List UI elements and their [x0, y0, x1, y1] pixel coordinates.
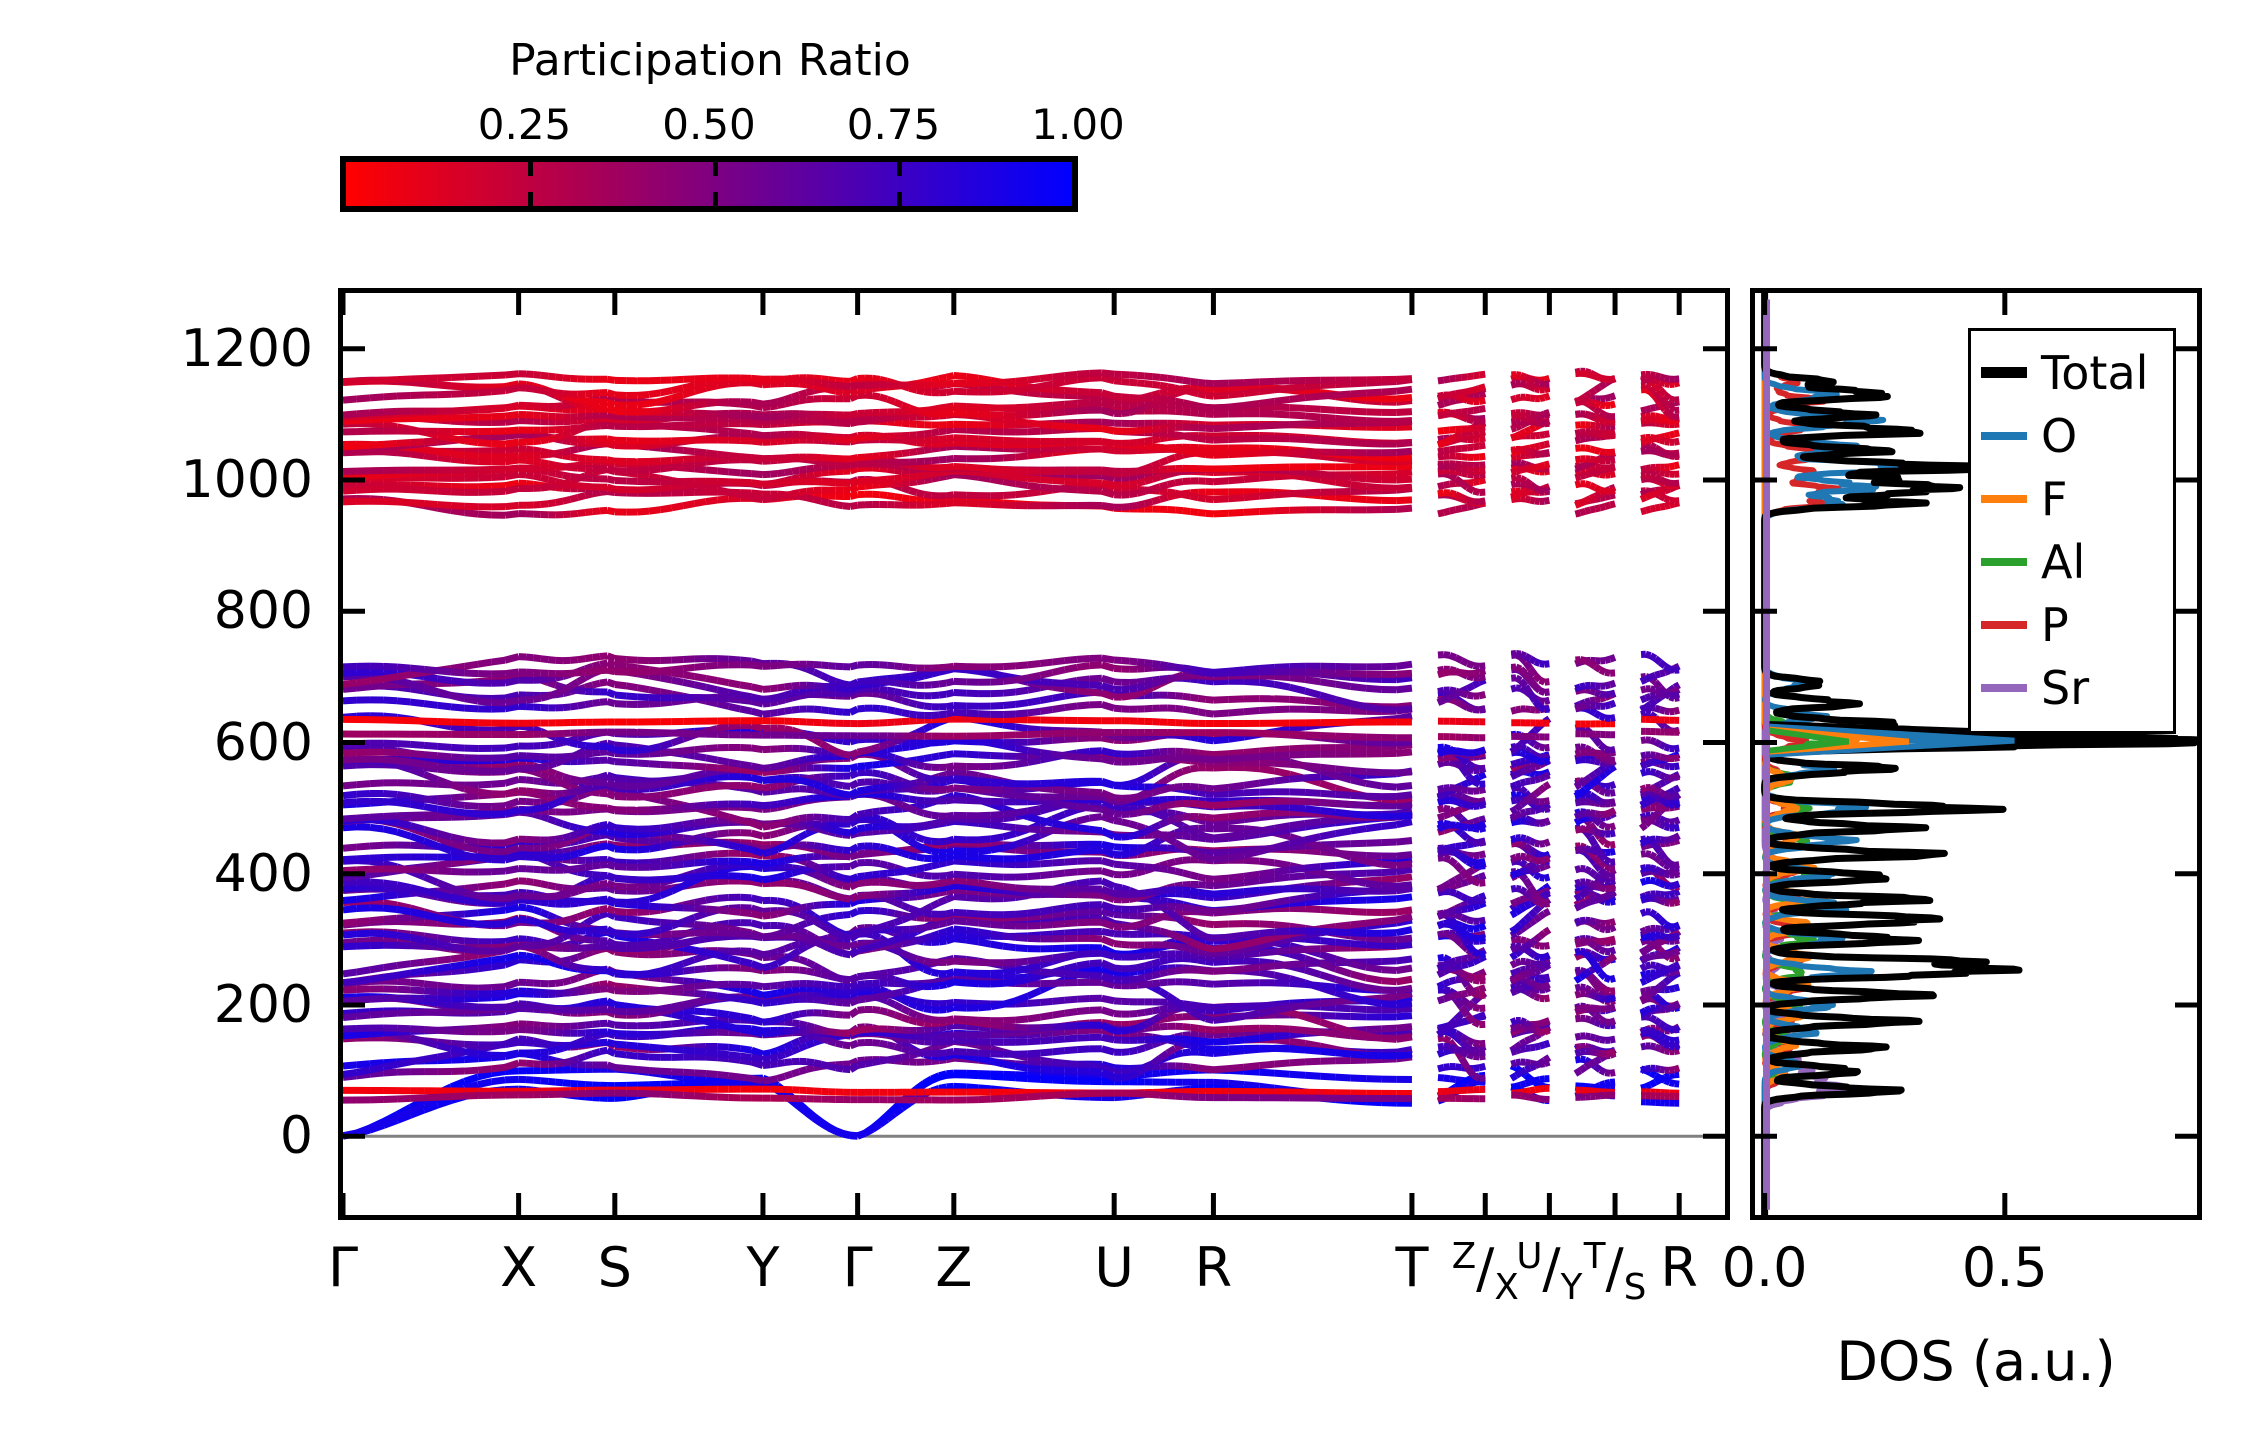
dos-legend: TotalOFAlPSr [1968, 328, 2176, 734]
dos-legend-item-p[interactable]: P [1981, 593, 2165, 656]
dos-x-tick-label: 0.0 [1722, 1236, 1808, 1299]
colorbar-tick-label: 1.00 [1031, 100, 1125, 149]
dos-legend-item-al[interactable]: Al [1981, 530, 2165, 593]
colorbar-tick-label: 0.50 [662, 100, 756, 149]
legend-label: Al [2041, 539, 2085, 585]
band-x-tick-label: T [1395, 1236, 1428, 1299]
legend-line-swatch [1981, 684, 2027, 692]
dos-legend-item-total[interactable]: Total [1981, 341, 2165, 404]
colorbar-tick-mark [528, 162, 533, 206]
colorbar-group: Participation Ratio 0.250.500.751.00 [340, 38, 1080, 198]
legend-label: F [2041, 476, 2067, 522]
dos-legend-item-f[interactable]: F [1981, 467, 2165, 530]
band-x-tick-label: R [1195, 1236, 1233, 1299]
legend-line-swatch [1981, 432, 2027, 440]
band-y-tick-label: 1200 [128, 319, 313, 379]
band-y-tick-label: 600 [128, 713, 313, 773]
band-x-tick-label: R [1660, 1236, 1698, 1299]
legend-line-swatch [1981, 621, 2027, 629]
phonon-figure: Participation Ratio 0.250.500.751.00 020… [0, 0, 2259, 1455]
dos-x-axis-title: DOS (a.u.) [1750, 1330, 2202, 1393]
legend-label: O [2041, 413, 2077, 459]
band-y-tick-label: 400 [128, 844, 313, 904]
dos-legend-item-sr[interactable]: Sr [1981, 656, 2165, 719]
band-structure-plot [343, 293, 1725, 1215]
band-x-tick-label: X [500, 1236, 537, 1299]
colorbar-tick-label: 0.25 [478, 100, 572, 149]
legend-line-swatch [1981, 558, 2027, 566]
colorbar-tick-label: 0.75 [847, 100, 941, 149]
band-y-tick-label: 0 [128, 1106, 313, 1166]
colorbar-tick-mark [897, 162, 902, 206]
band-lines-group [343, 371, 1679, 1136]
band-x-tick-label: U [1094, 1236, 1134, 1299]
band-x-tick-label: Z [935, 1236, 972, 1299]
band-y-tick-label: 200 [128, 975, 313, 1035]
band-x-tick-label: Γ [328, 1236, 358, 1299]
band-y-tick-label: 1000 [128, 450, 313, 510]
band-x-tick-label: U/Y [1516, 1236, 1582, 1308]
legend-label: Sr [2041, 665, 2089, 711]
legend-label: Total [2041, 350, 2148, 396]
band-x-tick-label: S [598, 1236, 632, 1299]
colorbar-title: Participation Ratio [340, 38, 1080, 84]
band-y-tick-label: 800 [128, 581, 313, 641]
dos-legend-item-o[interactable]: O [1981, 404, 2165, 467]
legend-line-swatch [1981, 367, 2027, 378]
legend-line-swatch [1981, 495, 2027, 503]
band-x-tick-label: Y [746, 1236, 779, 1299]
colorbar-tick-mark [713, 162, 718, 206]
legend-label: P [2041, 602, 2069, 648]
band-structure-axes [338, 288, 1730, 1220]
dos-x-tick-label: 0.5 [1962, 1236, 2048, 1299]
colorbar-tick-labels: 0.250.500.751.00 [340, 100, 1080, 150]
band-x-tick-label: Γ [843, 1236, 873, 1299]
band-x-tick-label: T/S [1584, 1236, 1647, 1308]
band-x-tick-label: Z/X [1452, 1236, 1519, 1308]
colorbar-gradient [340, 156, 1078, 212]
